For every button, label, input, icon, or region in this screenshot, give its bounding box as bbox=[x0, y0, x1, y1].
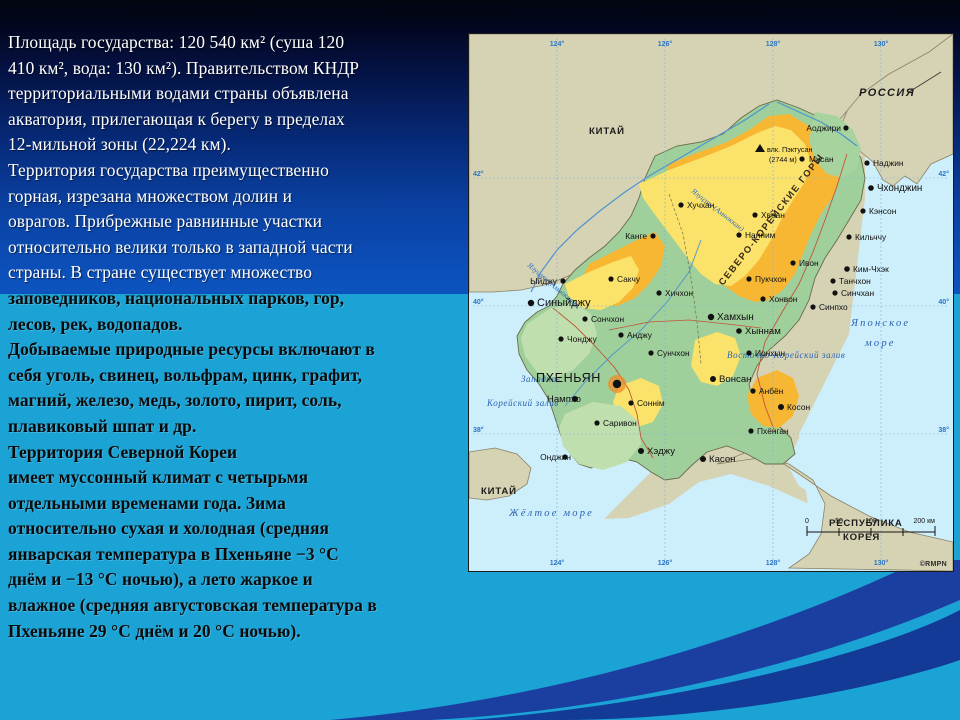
lat-label-right: 42° bbox=[938, 170, 949, 178]
lon-label-bottom: 126° bbox=[658, 559, 673, 567]
country-label-rok-line2: КОРЕЯ bbox=[843, 532, 880, 543]
body-line: территориальными водами страны объявлена bbox=[8, 81, 460, 107]
city-label: Онджин bbox=[540, 452, 571, 462]
body-line: 12-мильной зоны (22,224 км). bbox=[8, 132, 460, 158]
city-label: Хамхын bbox=[717, 312, 754, 323]
peak-label-name: влк. Пэктусан bbox=[767, 145, 813, 154]
body-line: относительно сухая и холодная (средняя bbox=[8, 516, 460, 542]
body-line: плавиковый шпат и др. bbox=[8, 414, 460, 440]
country-label-china-north: КИТАЙ bbox=[589, 125, 625, 137]
city-label: Хонвон bbox=[769, 294, 798, 304]
map-credit: ©RMPN bbox=[920, 561, 947, 568]
city-label: Аоджири bbox=[806, 123, 841, 133]
lat-label-right: 40° bbox=[938, 298, 949, 306]
body-line: имеет муссонный климат с четырьмя bbox=[8, 465, 460, 491]
body-line: себя уголь, свинец, вольфрам, цинк, граф… bbox=[8, 363, 460, 389]
city-label: Косон bbox=[787, 402, 810, 412]
city-label: Вонсан bbox=[719, 374, 751, 385]
city-label: Касон bbox=[709, 454, 735, 465]
sea-label-japan-line1: Японское bbox=[850, 318, 910, 329]
city-label: Сунчхон bbox=[657, 348, 690, 358]
scale-tick-label: 50 bbox=[835, 518, 843, 525]
body-line: Территория Северной Кореи bbox=[8, 440, 460, 466]
city-label: Нампхо bbox=[547, 394, 581, 405]
city-label: Кэнсон bbox=[869, 206, 897, 216]
city-label: Наджин bbox=[873, 158, 904, 168]
lon-label-bottom: 130° bbox=[874, 559, 889, 567]
city-label: Ивон bbox=[799, 258, 819, 268]
country-label-russia: РОССИЯ bbox=[859, 87, 915, 99]
lon-label-bottom: 128° bbox=[766, 559, 781, 567]
body-line: страны. В стране существует множество bbox=[8, 260, 460, 286]
body-line: отдельными временами года. Зима bbox=[8, 491, 460, 517]
city-label: Синчхан bbox=[841, 288, 874, 298]
slide-root: Площадь государства: 120 540 км² (суша 1… bbox=[0, 0, 960, 720]
lon-label-top: 126° bbox=[658, 40, 673, 48]
lon-label-bottom: 124° bbox=[550, 559, 565, 567]
body-line: заповедников, национальных парков, гор, bbox=[8, 286, 460, 312]
gulf-label-east: Восточно-Корейский залив bbox=[727, 350, 845, 360]
body-line: магний, железо, медь, золото, пирит, сол… bbox=[8, 388, 460, 414]
body-line: днём и −13 °C ночью), а лето жаркое и bbox=[8, 567, 460, 593]
body-line: лесов, рек, водопадов. bbox=[8, 312, 460, 338]
peak-label-elevation: (2744 м) bbox=[769, 155, 797, 164]
slide-body-text: Площадь государства: 120 540 км² (суша 1… bbox=[8, 30, 460, 644]
city-label: Танчхон bbox=[839, 276, 871, 286]
body-line: оврагов. Прибрежные равнинные участки bbox=[8, 209, 460, 235]
city-label: Сакчу bbox=[617, 274, 641, 284]
body-line: относительно велики только в западной ча… bbox=[8, 235, 460, 261]
city-label: Кильччу bbox=[855, 232, 887, 242]
city-label: Ыйджу bbox=[530, 276, 558, 286]
capital-marker bbox=[608, 375, 626, 393]
city-label: Хичхон bbox=[665, 288, 693, 298]
sea-label-japan-line2: море bbox=[864, 338, 896, 349]
city-label: Канге bbox=[625, 231, 647, 241]
scale-tick-label: 100 bbox=[865, 518, 877, 525]
city-label: Нанним bbox=[745, 230, 776, 240]
north-korea-map: 124° 126° 128° 130° 124° 126° 128° 130° … bbox=[468, 33, 954, 572]
body-line: акватория, прилегающая к берегу в предел… bbox=[8, 107, 460, 133]
city-label: Пукчхон bbox=[755, 274, 787, 284]
city-label: Ким-Чхэк bbox=[853, 264, 889, 274]
city-label: Анбён bbox=[759, 386, 784, 396]
sea-label-yellow: Жёлтое море bbox=[508, 508, 594, 519]
body-line: Площадь государства: 120 540 км² (суша 1… bbox=[8, 30, 460, 56]
lon-label-top: 130° bbox=[874, 40, 889, 48]
city-label: Пхёнган bbox=[757, 426, 789, 436]
city-label: Хыннам bbox=[745, 326, 781, 337]
lat-label-left: 42° bbox=[473, 170, 484, 178]
lat-label-left: 38° bbox=[473, 426, 484, 434]
body-line: 410 км², вода: 130 км²). Правительством … bbox=[8, 56, 460, 82]
scale-tick-label: 200 км bbox=[914, 518, 936, 525]
city-label: Соннім bbox=[637, 398, 665, 408]
city-label: Хвеан bbox=[761, 210, 785, 220]
lat-label-right: 38° bbox=[938, 426, 949, 434]
city-label: Синпхо bbox=[819, 302, 848, 312]
city-label: Сончхон bbox=[591, 314, 624, 324]
city-label: Чонджу bbox=[567, 334, 597, 344]
body-line: влажное (средняя августовская температур… bbox=[8, 593, 460, 619]
lon-label-top: 124° bbox=[550, 40, 565, 48]
lat-label-left: 40° bbox=[473, 298, 484, 306]
capital-label-pyongyang: ПХЕНЬЯН bbox=[536, 371, 601, 385]
country-label-china-south: КИТАЙ bbox=[481, 485, 517, 497]
scale-tick-label: 0 bbox=[805, 518, 809, 525]
city-label: Ионхын bbox=[755, 348, 786, 358]
city-label: Чхонджин bbox=[877, 183, 922, 194]
body-line: Добываемые природные ресурсы включают в bbox=[8, 337, 460, 363]
city-label: Синыйджу bbox=[537, 297, 591, 309]
city-label: Хучхан bbox=[687, 200, 715, 210]
body-line: Территория государства преимущественно bbox=[8, 158, 460, 184]
city-label: Саривон bbox=[603, 418, 637, 428]
city-label: Анджу bbox=[627, 330, 653, 340]
map-canvas: 124° 126° 128° 130° 124° 126° 128° 130° … bbox=[469, 34, 953, 571]
body-line: январская температура в Пхеньяне −3 °C bbox=[8, 542, 460, 568]
city-label: Мусан bbox=[809, 154, 834, 164]
lon-label-top: 128° bbox=[766, 40, 781, 48]
body-line: Пхеньяне 29 °C днём и 20 °C ночью). bbox=[8, 619, 460, 645]
body-line: горная, изрезана множеством долин и bbox=[8, 184, 460, 210]
city-label: Хэджу bbox=[647, 446, 675, 457]
